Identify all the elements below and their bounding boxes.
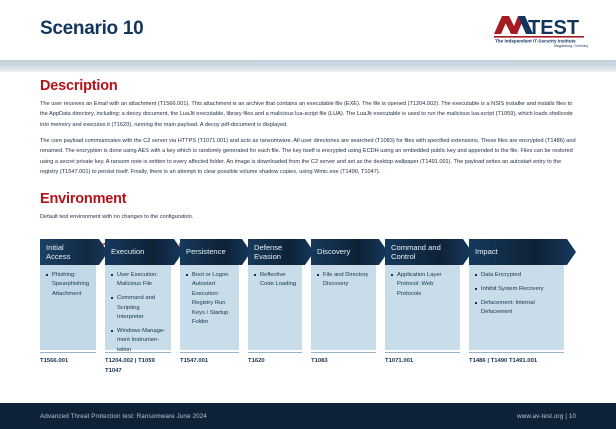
tactic-header-line: Impact [475, 247, 498, 256]
slide-page: Scenario 10 TEST The Independent IT-Secu… [0, 0, 616, 429]
tactic-column-defense-evasion: DefenseEvasionReflective Code LoadingT16… [248, 239, 314, 370]
tactics-columns: InitialAccessPhishing: Spearphishing Att… [40, 239, 576, 370]
technique-item: File and Directory Discovery [317, 271, 371, 290]
tactic-technique-list: Phishing: Spearphishing Attachment [40, 265, 96, 350]
tactic-header-line: Execution [111, 247, 144, 256]
tactic-header-label: Execution [111, 247, 144, 256]
tactic-technique-list: Boot or Logon Autostart Execution: Regis… [180, 265, 239, 350]
tactic-column-initial-access: InitialAccessPhishing: Spearphishing Att… [40, 239, 108, 370]
technique-item: Boot or Logon Autostart Execution: Regis… [186, 271, 234, 327]
technique-item: Application Layer Protocol: Web Protocol… [391, 271, 455, 299]
tactic-header-line: Evasion [254, 252, 282, 261]
tactic-column-command-and-control: Command andControlApplication Layer Prot… [385, 239, 472, 370]
technique-id-list: T1547.001 [180, 352, 239, 367]
environment-heading: Environment [40, 191, 616, 207]
technique-item: Data Encrypted [475, 271, 559, 280]
tactic-header-command-and-control: Command andControl [385, 239, 472, 265]
page-title: Scenario 10 [40, 18, 143, 40]
tactic-technique-list: Application Layer Protocol: Web Protocol… [385, 265, 460, 350]
tactic-column-persistence: PersistenceBoot or Logon Autostart Execu… [180, 239, 251, 370]
svg-text:The Independent IT-Security In: The Independent IT-Security Institute [495, 39, 576, 44]
technique-id-list: T1620 [248, 352, 302, 367]
technique-item: Defacement: Internal Defacement [475, 299, 559, 318]
technique-id-list: T1071.001 [385, 352, 460, 367]
slide-header: Scenario 10 TEST The Independent IT-Secu… [0, 0, 616, 60]
description-paragraph-2: The core payload communicates with the C… [40, 136, 580, 177]
tactic-technique-list: File and Directory Discovery [311, 265, 376, 350]
technique-id-list: T1083 [311, 352, 376, 367]
tactic-header-persistence: Persistence [180, 239, 251, 265]
tactic-header-line: Defense [254, 243, 282, 252]
technique-id-list: T1566.001 [40, 352, 96, 367]
technique-item: Command and Scripting Interpreter [111, 294, 166, 322]
tactic-header-label: Command andControl [391, 243, 441, 262]
tactics-table: InitialAccessPhishing: Spearphishing Att… [40, 239, 576, 370]
technique-item: Windows Manage-ment Instrumen-tation [111, 327, 166, 355]
tactic-technique-list: User Execution: Malicious FileCommand an… [105, 265, 171, 350]
footer-url-page: www.av-test.org | 10 [517, 413, 576, 420]
tactic-column-impact: ImpactData EncryptedInhibit System Recov… [469, 239, 576, 370]
svg-text:Magdeburg, Germany: Magdeburg, Germany [554, 44, 588, 48]
description-heading: Description [40, 78, 616, 94]
technique-item: Reflective Code Loading [254, 271, 297, 290]
tactic-technique-list: Reflective Code Loading [248, 265, 302, 350]
tactic-header-line: Command and [391, 243, 441, 252]
tactic-column-discovery: DiscoveryFile and Directory DiscoveryT10… [311, 239, 388, 370]
tactic-header-line: Access [46, 252, 70, 261]
technique-id-list: T1204.002 | T1059 T1047 [105, 352, 171, 376]
tactic-header-defense-evasion: DefenseEvasion [248, 239, 314, 265]
tactic-header-label: Impact [475, 247, 498, 256]
environment-paragraph: Default test environment with no changes… [40, 212, 580, 222]
tactic-header-label: InitialAccess [46, 243, 70, 262]
slide-footer: Advanced Threat Protection test: Ransomw… [0, 403, 616, 429]
tactic-header-line: Persistence [186, 247, 226, 256]
header-divider-band [0, 60, 616, 72]
technique-item: Phishing: Spearphishing Attachment [46, 271, 91, 299]
tactic-technique-list: Data EncryptedInhibit System RecoveryDef… [469, 265, 564, 350]
footer-test-name: Advanced Threat Protection test: Ransomw… [40, 413, 207, 420]
svg-text:TEST: TEST [528, 17, 579, 39]
technique-item: Inhibit System Recovery [475, 285, 559, 294]
tactic-header-line: Discovery [317, 247, 350, 256]
tactic-header-label: Discovery [317, 247, 350, 256]
tactic-header-execution: Execution [105, 239, 183, 265]
tactic-header-label: DefenseEvasion [254, 243, 282, 262]
tactic-header-initial-access: InitialAccess [40, 239, 108, 265]
av-test-logo: TEST The Independent IT-Security Institu… [492, 14, 588, 48]
description-paragraph-1: The user receives an Email with an attac… [40, 99, 580, 130]
slide-content: Description The user receives an Email w… [0, 72, 616, 255]
tactic-column-execution: ExecutionUser Execution: Malicious FileC… [105, 239, 183, 370]
tactic-header-line: Initial [46, 243, 70, 252]
tactic-header-impact: Impact [469, 239, 576, 265]
technique-item: User Execution: Malicious File [111, 271, 166, 290]
tactic-header-line: Control [391, 252, 441, 261]
tactic-header-discovery: Discovery [311, 239, 388, 265]
technique-id-list: T1486 | T1490 T1491.001 [469, 352, 564, 367]
tactic-header-label: Persistence [186, 247, 226, 256]
